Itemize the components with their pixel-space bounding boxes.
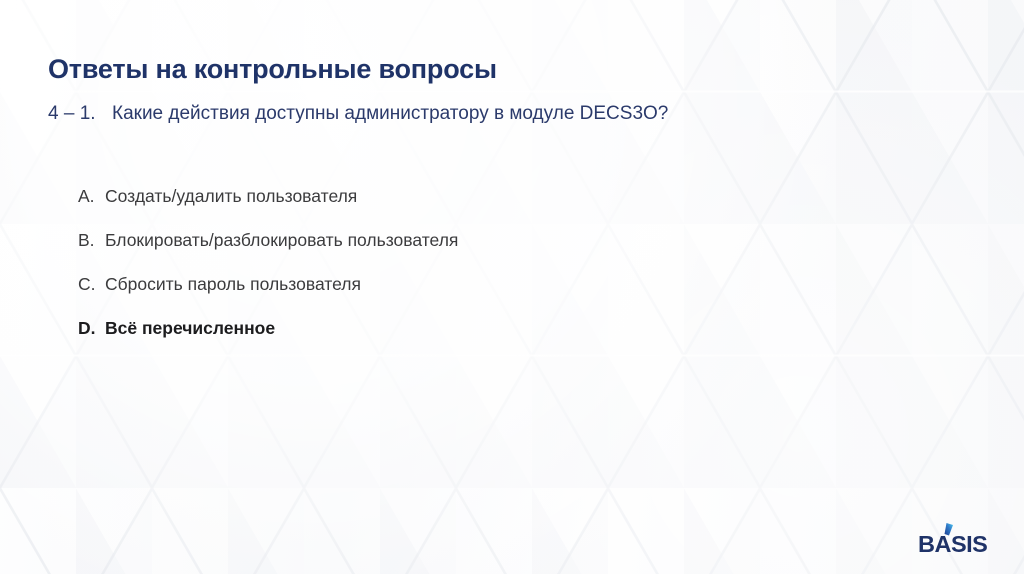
option-letter-b: B. xyxy=(78,230,105,251)
slide: Ответы на контрольные вопросы 4 – 1. Как… xyxy=(0,0,1024,574)
question-text: Какие действия доступны администратору в… xyxy=(112,103,668,125)
answer-option-c[interactable]: C. Сбросить пароль пользователя xyxy=(78,274,458,318)
option-letter-d: D. xyxy=(78,318,105,339)
answer-option-b[interactable]: B. Блокировать/разблокировать пользовате… xyxy=(78,230,458,274)
option-text-b: Блокировать/разблокировать пользователя xyxy=(105,230,458,251)
option-text-c: Сбросить пароль пользователя xyxy=(105,274,361,295)
answer-option-a[interactable]: A. Создать/удалить пользователя xyxy=(78,186,458,230)
slide-content: Ответы на контрольные вопросы 4 – 1. Как… xyxy=(0,0,1024,574)
basis-logo: BASIS xyxy=(918,522,996,556)
option-letter-c: C. xyxy=(78,274,105,295)
question-row: 4 – 1. Какие действия доступны администр… xyxy=(48,103,668,125)
question-number: 4 – 1. xyxy=(48,103,112,125)
svg-text:BASIS: BASIS xyxy=(918,531,987,556)
option-text-a: Создать/удалить пользователя xyxy=(105,186,357,207)
option-text-d: Всё перечисленное xyxy=(105,318,275,339)
page-title: Ответы на контрольные вопросы xyxy=(48,54,497,85)
answer-option-d[interactable]: D. Всё перечисленное xyxy=(78,318,458,362)
answer-options-list: A. Создать/удалить пользователя B. Блоки… xyxy=(78,186,458,362)
option-letter-a: A. xyxy=(78,186,105,207)
